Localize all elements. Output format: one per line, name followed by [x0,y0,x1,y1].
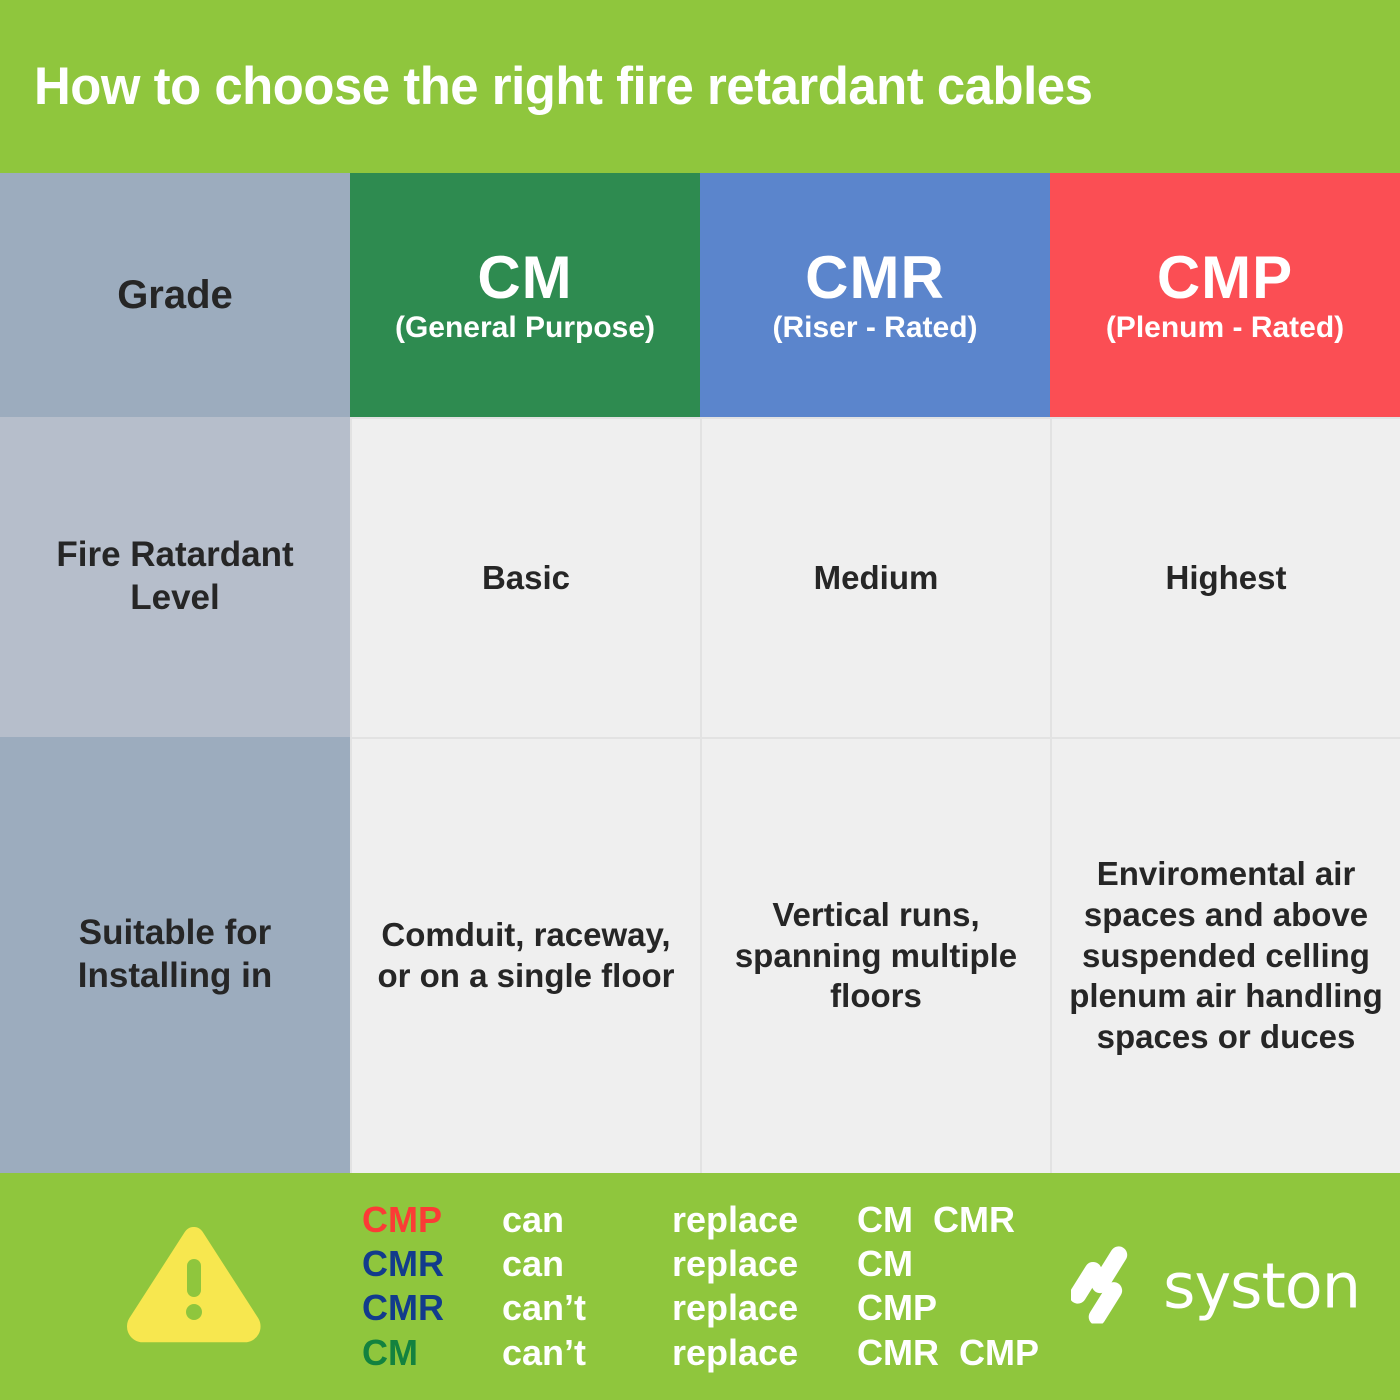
column-header-cm: CM (General Purpose) [350,173,700,417]
cell-text: Comduit, raceway, or on a single floor [362,915,690,997]
comparison-table: Grade CM (General Purpose) CMR (Riser - … [0,173,1400,1173]
cmr-subtitle: (Riser - Rated) [772,311,977,344]
cell-level-cmp: Highest [1050,417,1400,737]
cell-text: Basic [482,558,570,599]
cell-text: Vertical runs, spanning multiple floors [712,895,1040,1018]
cell-text: Enviromental air spaces and above suspen… [1062,854,1390,1059]
rule-targets: CM CMR [857,1199,1015,1241]
rule-verb: replace [672,1332,857,1374]
rule-row: CMR can replace CM [362,1243,1039,1285]
rule-verb: replace [672,1288,857,1330]
rule-code: CMR [362,1243,502,1285]
column-header-grade: Grade [0,173,350,417]
rule-row: CMR can’t replace CMP [362,1288,1039,1330]
rule-row: CM can’t replace CMR CMP [362,1332,1039,1374]
cm-code: CM [477,246,572,309]
warning-triangle-icon [122,1227,267,1347]
rule-code: CMP [362,1199,502,1241]
cmp-code: CMP [1157,246,1293,309]
table-row: Suitable for Installing in Comduit, race… [0,737,1400,1173]
row-label-suitable-for-installing-in: Suitable for Installing in [0,737,350,1173]
cell-level-cmr: Medium [700,417,1050,737]
replacement-rules-list: CMP can replace CM CMR CMR can replace C… [362,1199,1039,1375]
cell-level-cm: Basic [350,417,700,737]
infographic-page: How to choose the right fire retardant c… [0,0,1400,1400]
table-row: Fire Ratardant Level Basic Medium Highes… [0,417,1400,737]
cmp-subtitle: (Plenum - Rated) [1106,311,1344,344]
rule-targets: CMP [857,1288,937,1330]
syston-logo: syston [1071,1245,1360,1328]
header-band: How to choose the right fire retardant c… [0,0,1400,173]
syston-wordmark: syston [1163,1256,1360,1318]
row-label-fire-retardant-level: Fire Ratardant Level [0,417,350,737]
cell-text: Highest [1165,558,1286,599]
row-label-text: Suitable for Installing in [10,912,340,997]
table-header-row: Grade CM (General Purpose) CMR (Riser - … [0,173,1400,417]
cell-text: Medium [814,558,939,599]
rule-modal: can [502,1199,672,1241]
cell-suitable-cm: Comduit, raceway, or on a single floor [350,737,700,1173]
footer-band: CMP can replace CM CMR CMR can replace C… [0,1173,1400,1400]
rule-verb: replace [672,1243,857,1285]
cell-suitable-cmr: Vertical runs, spanning multiple floors [700,737,1050,1173]
rule-modal: can’t [502,1332,672,1374]
cm-subtitle: (General Purpose) [395,311,655,344]
rule-modal: can [502,1243,672,1285]
cell-suitable-cmp: Enviromental air spaces and above suspen… [1050,737,1400,1173]
rule-targets: CM [857,1243,913,1285]
cmr-code: CMR [805,246,945,309]
rule-verb: replace [672,1199,857,1241]
row-label-text: Fire Ratardant Level [10,534,340,619]
rule-row: CMP can replace CM CMR [362,1199,1039,1241]
rule-code: CMR [362,1288,502,1330]
rule-code: CM [362,1332,502,1374]
page-title: How to choose the right fire retardant c… [34,59,1092,115]
column-header-cmp: CMP (Plenum - Rated) [1050,173,1400,417]
column-header-cmr: CMR (Riser - Rated) [700,173,1050,417]
rule-targets: CMR CMP [857,1332,1039,1374]
rule-modal: can’t [502,1288,672,1330]
grade-label: Grade [117,273,233,317]
syston-bars-icon [1071,1245,1149,1328]
